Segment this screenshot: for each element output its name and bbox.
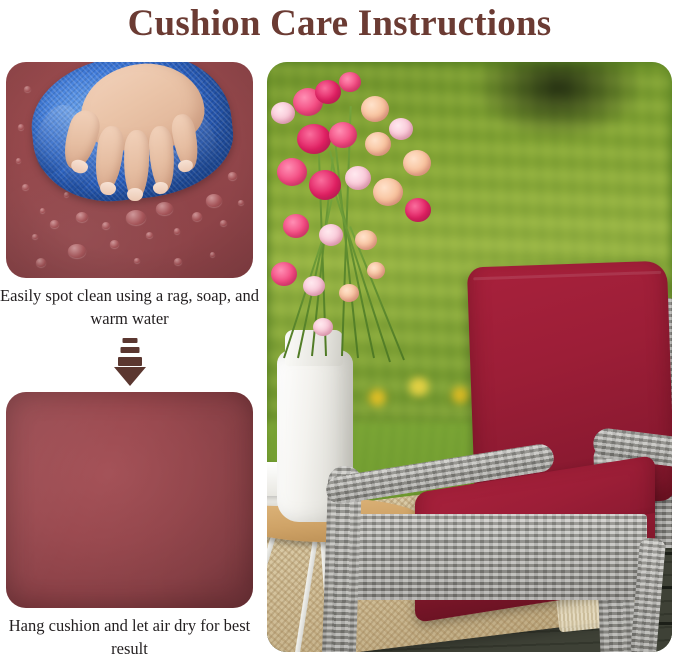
flower-bloom	[283, 214, 309, 238]
image-vignette	[6, 62, 253, 278]
flower-bloom	[297, 124, 331, 154]
flower-bloom	[313, 318, 333, 336]
flower-bloom	[329, 122, 357, 148]
flower-bloom	[271, 262, 297, 286]
flower-bloom	[345, 166, 371, 190]
step-image-spot-clean	[6, 62, 253, 278]
flower-bloom	[367, 262, 385, 279]
step-image-air-dry	[6, 392, 253, 608]
flower-bloom	[339, 284, 359, 302]
flower-bloom	[361, 96, 389, 122]
flower-bloom	[277, 158, 307, 186]
flower-bloom	[271, 102, 295, 124]
flower-bloom	[403, 150, 431, 176]
page-title: Cushion Care Instructions	[0, 2, 679, 46]
flower-bloom	[405, 198, 431, 222]
step-caption-spot-clean: Easily spot clean using a rag, soap, and…	[0, 284, 259, 330]
down-arrow-icon	[112, 338, 148, 386]
chair-base-panel	[327, 514, 647, 600]
step-caption-air-dry: Hang cushion and let air dry for best re…	[0, 614, 259, 660]
flower-bloom	[355, 230, 377, 250]
flower-bloom	[315, 80, 341, 104]
flower-bouquet	[267, 66, 443, 366]
flower-bloom	[389, 118, 413, 140]
hero-image-patio-scene	[267, 62, 672, 652]
flower-bloom	[309, 170, 341, 200]
flower-bloom	[373, 178, 403, 206]
flower-bloom	[339, 72, 361, 92]
flower-bloom	[319, 224, 343, 246]
flower-bloom	[365, 132, 391, 156]
cushion-sheen	[6, 392, 253, 608]
flower-bloom	[303, 276, 325, 296]
